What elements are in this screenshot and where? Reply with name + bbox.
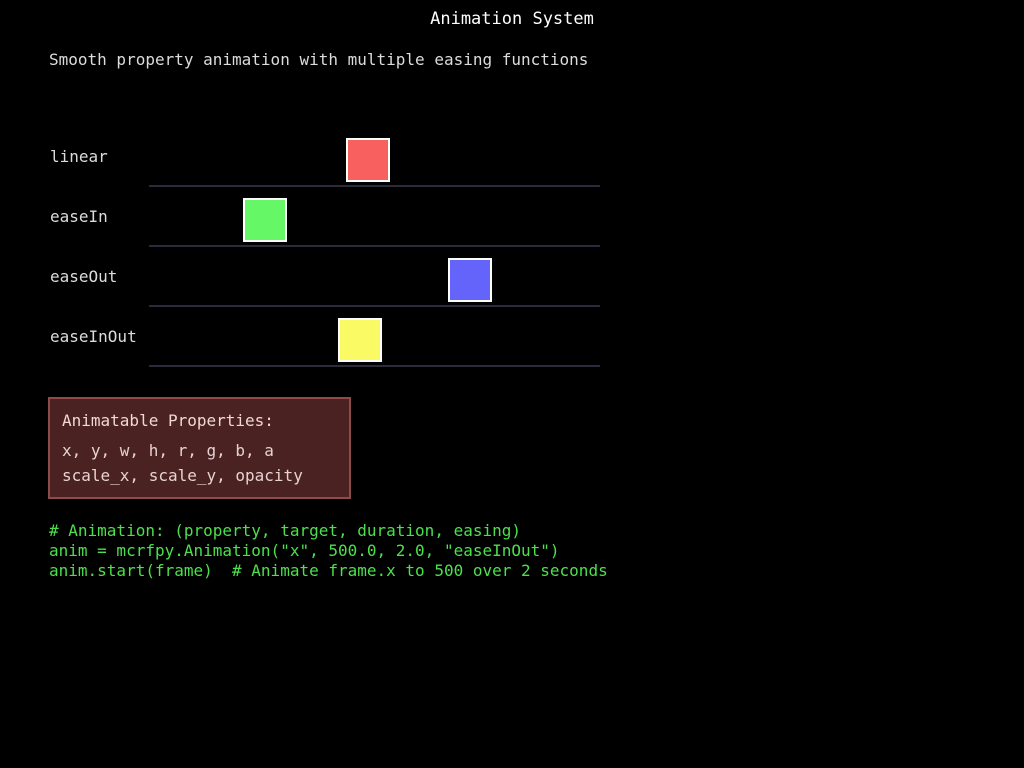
code-line-1: # Animation: (property, target, duration… [49,521,608,541]
easing-track-line-easeinout [149,365,600,367]
animation-demo-screen: Animation System Smooth property animati… [0,0,1024,768]
animated-box-easeout [448,258,492,302]
animated-box-easein [243,198,287,242]
animatable-properties-line-1: x, y, w, h, r, g, b, a [62,441,274,460]
animatable-properties-panel: Animatable Properties: x, y, w, h, r, g,… [48,397,351,499]
easing-track-label-easein: easeIn [50,207,108,226]
animatable-properties-line-2: scale_x, scale_y, opacity [62,466,303,485]
animatable-properties-title: Animatable Properties: [62,411,274,430]
code-sample: # Animation: (property, target, duration… [49,521,608,581]
animated-box-easeinout [338,318,382,362]
easing-track-line-easeout [149,305,600,307]
animated-box-linear [346,138,390,182]
easing-track-line-linear [149,185,600,187]
code-line-2: anim = mcrfpy.Animation("x", 500.0, 2.0,… [49,541,608,561]
easing-track-line-easein [149,245,600,247]
easing-track-easeinout: easeInOut [0,0,1024,60]
easing-track-label-easeout: easeOut [50,267,117,286]
easing-track-label-linear: linear [50,147,108,166]
code-line-3: anim.start(frame) # Animate frame.x to 5… [49,561,608,581]
easing-track-label-easeinout: easeInOut [50,327,137,346]
